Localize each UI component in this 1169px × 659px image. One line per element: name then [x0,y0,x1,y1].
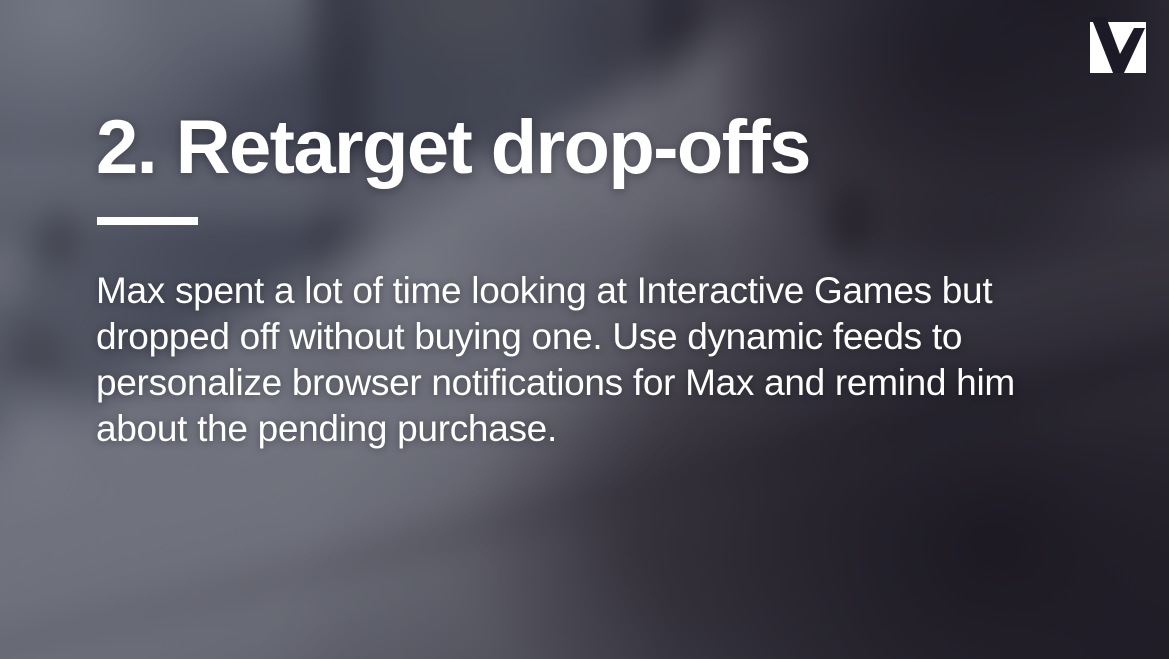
slide-headline: 2. Retarget drop-offs [96,110,810,186]
slide: 2. Retarget drop-offs Max spent a lot of… [0,0,1169,659]
slide-body-text: Max spent a lot of time looking at Inter… [96,268,1056,452]
slide-content: 2. Retarget drop-offs Max spent a lot of… [96,0,1056,659]
v-logo [1090,17,1146,73]
accent-rule [97,217,198,225]
